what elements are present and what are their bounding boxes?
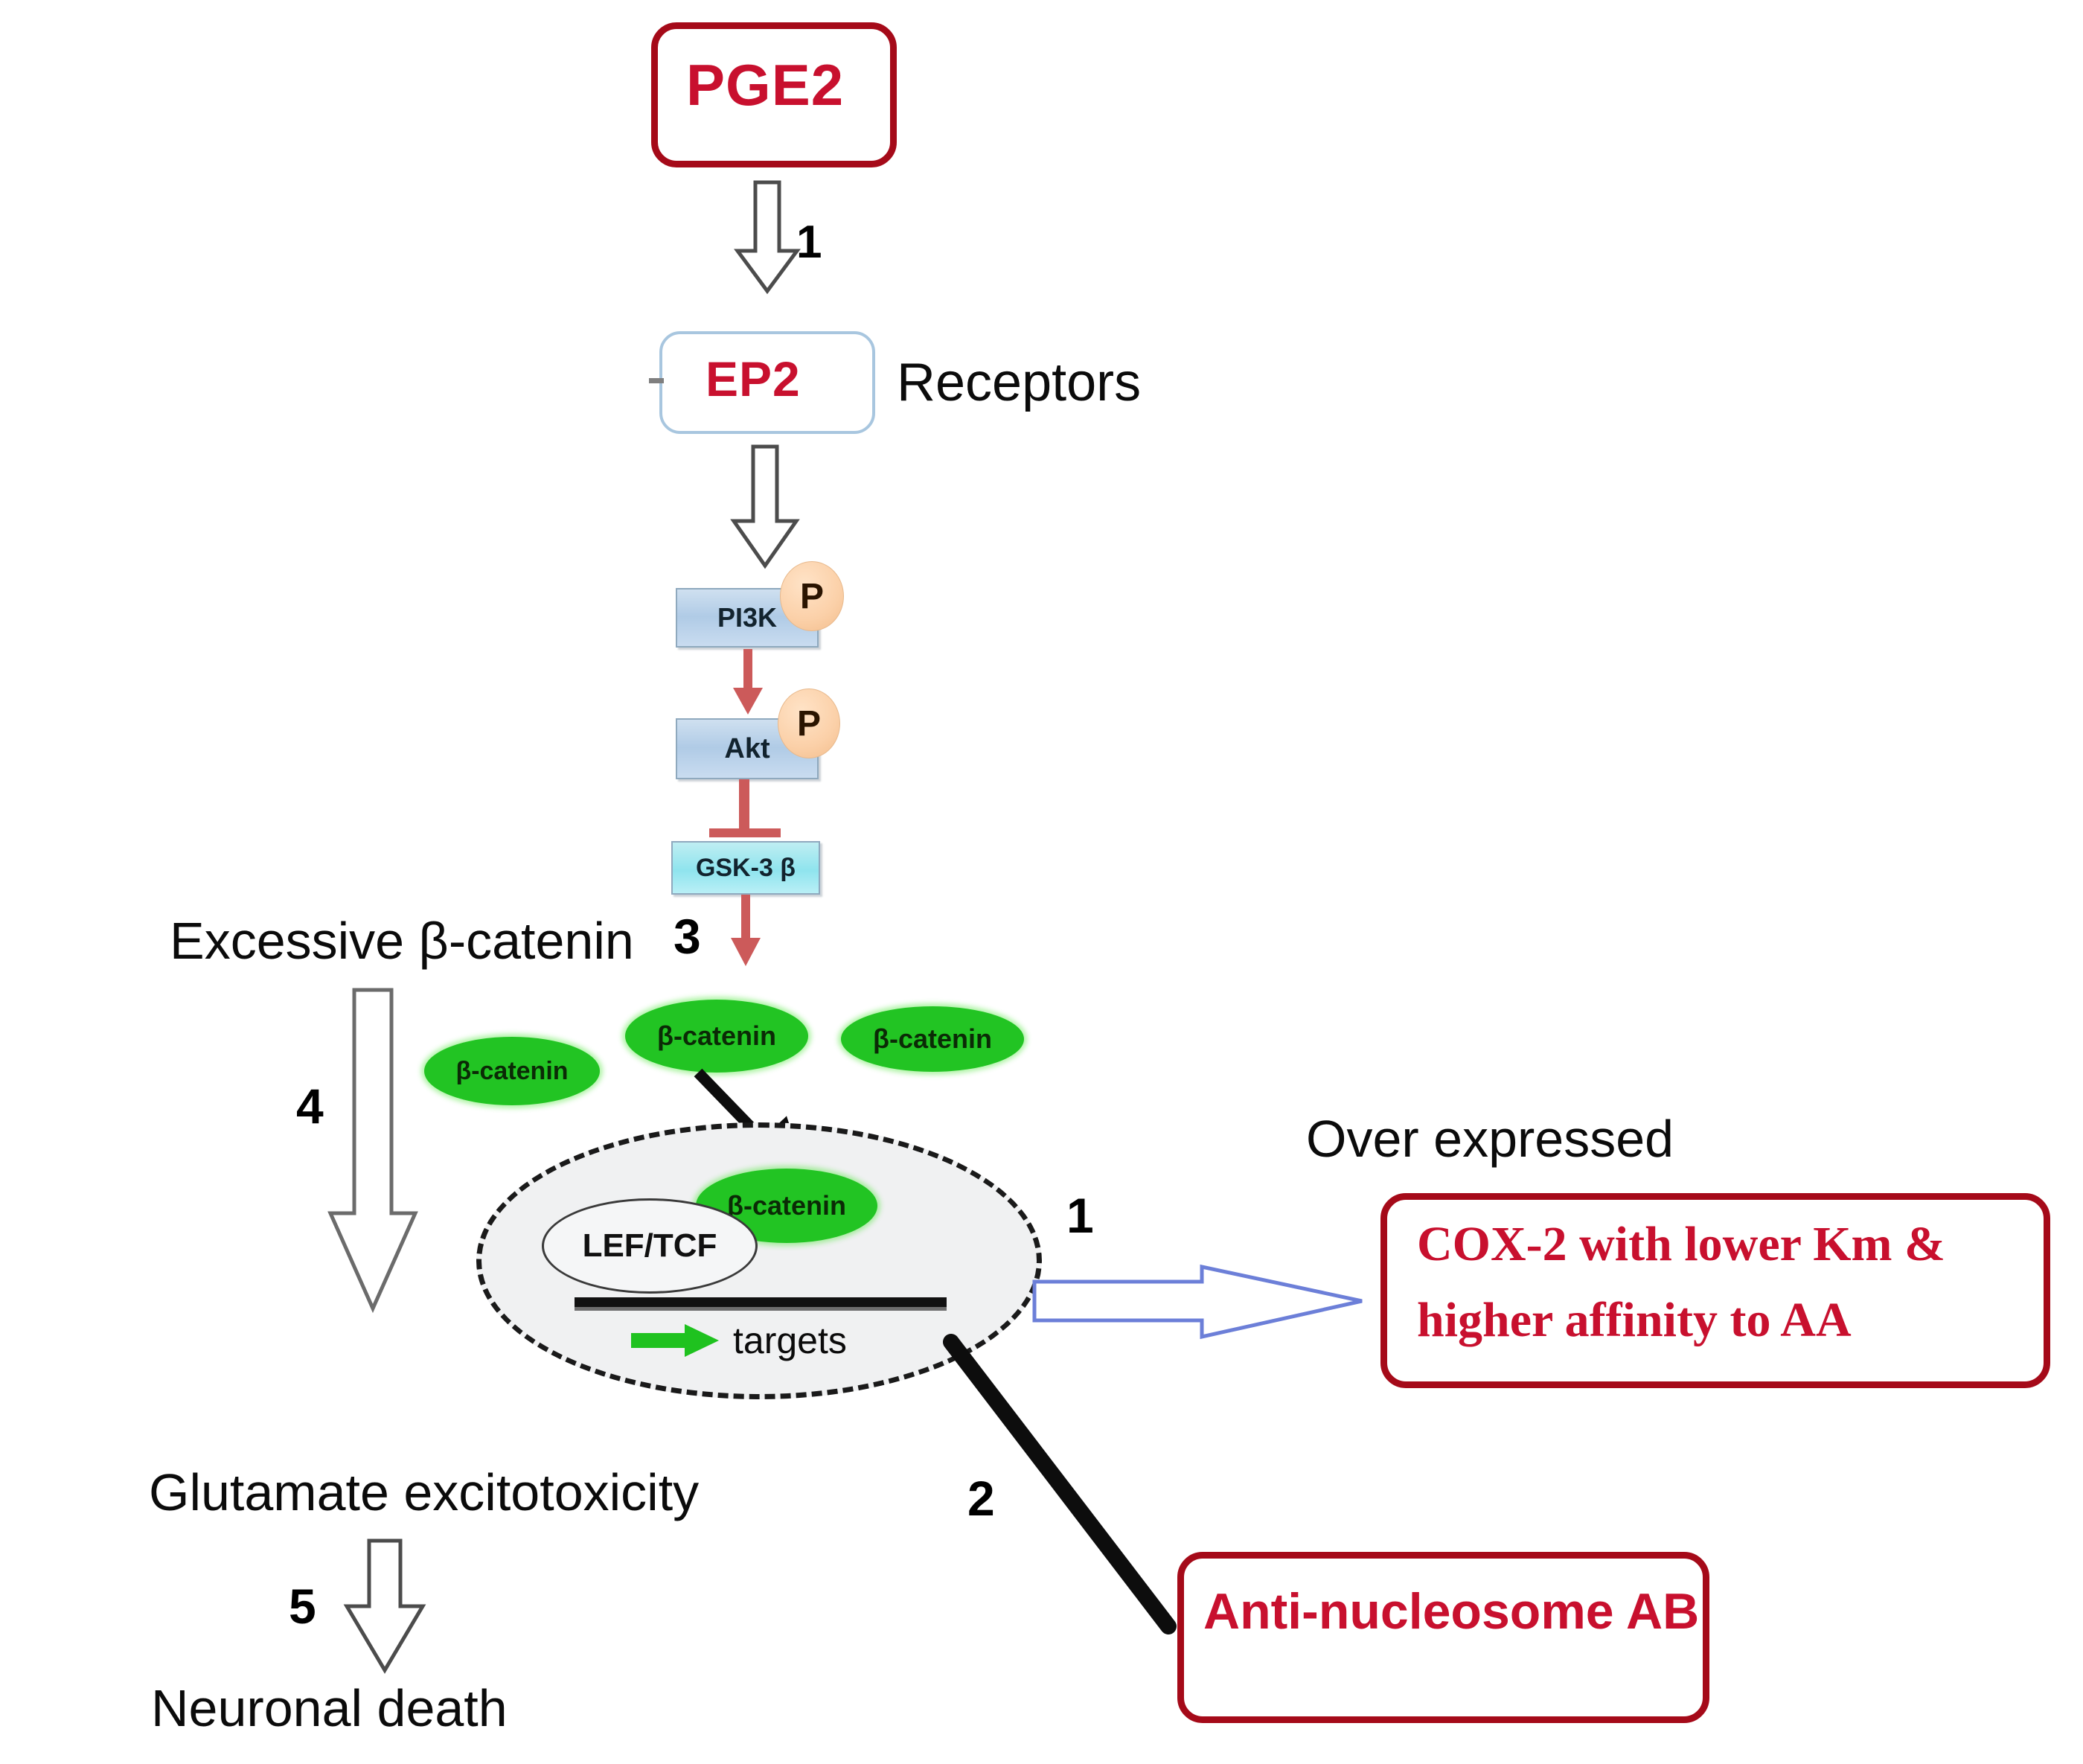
- bcatenin-free-middle: β-catenin: [625, 1000, 808, 1073]
- step-3-label: 3: [673, 908, 701, 965]
- neuronal-death-label: Neuronal death: [151, 1678, 508, 1738]
- glutamate-excitotoxicity-label: Glutamate excitotoxicity: [149, 1463, 699, 1522]
- lef-tcf-node: LEF/TCF: [542, 1198, 758, 1294]
- phospho-label: P: [800, 576, 824, 617]
- phospho-label-akt: P: [797, 703, 821, 744]
- ep2-node: EP2: [659, 331, 875, 434]
- anti-nucleosome-label: Anti-nucleosome AB: [1203, 1582, 1699, 1640]
- arrow-step-5: [342, 1541, 454, 1675]
- bcatenin-label-mid: β-catenin: [657, 1020, 776, 1052]
- arrow-pi3k-to-akt: [726, 649, 770, 718]
- dna-strand: [575, 1297, 947, 1307]
- bcatenin-free-left: β-catenin: [424, 1037, 600, 1105]
- step-2-label: 2: [967, 1470, 995, 1527]
- ep2-label: EP2: [705, 351, 801, 407]
- bcatenin-free-right: β-catenin: [841, 1006, 1024, 1072]
- bcatenin-label-nuclear: β-catenin: [727, 1190, 846, 1221]
- pathway-diagram: PGE2 1 EP2 Receptors PI3K P Akt P GSK-3 …: [0, 0, 2083, 1764]
- arrow-targets: [631, 1323, 728, 1358]
- step-1-right-label: 1: [1066, 1187, 1094, 1244]
- pge2-label: PGE2: [686, 51, 844, 119]
- cox2-line2: higher affinity to AA: [1417, 1292, 1852, 1349]
- cox2-node: COX-2 with lower Km & higher affinity to…: [1380, 1193, 2050, 1388]
- step-1-top-label: 1: [796, 216, 822, 269]
- pi3k-label: PI3K: [717, 602, 777, 633]
- gsk3b-label: GSK-3 β: [696, 854, 796, 883]
- bcatenin-label: β-catenin: [455, 1057, 568, 1086]
- bcatenin-label-right: β-catenin: [873, 1023, 992, 1055]
- excessive-bcatenin-label: Excessive β-catenin: [170, 911, 634, 971]
- akt-label: Akt: [724, 733, 769, 765]
- arrow-gsk3b-down: [723, 895, 768, 969]
- phospho-badge-pi3k: P: [780, 561, 844, 631]
- arrow-ep2-to-pi3k: [729, 447, 819, 569]
- lef-tcf-label: LEF/TCF: [583, 1227, 717, 1265]
- inhibition-bar-akt-gsk3b: [709, 828, 781, 837]
- targets-label: targets: [733, 1319, 847, 1362]
- arrow-to-cox2: [1034, 1265, 1369, 1340]
- step-4-label: 4: [296, 1078, 324, 1134]
- ep2-left-tick: [649, 378, 664, 383]
- over-expressed-label: Over expressed: [1306, 1109, 1674, 1169]
- anti-nucleosome-node: Anti-nucleosome AB: [1177, 1552, 1709, 1723]
- inhibition-shaft-akt-gsk3b: [739, 779, 749, 833]
- dna-strand-shadow: [575, 1307, 947, 1311]
- gsk3b-node: GSK-3 β: [671, 841, 820, 895]
- receptors-label: Receptors: [897, 352, 1141, 413]
- step-5-label: 5: [289, 1578, 316, 1634]
- phospho-badge-akt: P: [778, 688, 840, 758]
- arrow-step-4: [327, 990, 447, 1317]
- cox2-line1: COX-2 with lower Km &: [1417, 1216, 1945, 1273]
- pge2-node: PGE2: [651, 22, 897, 167]
